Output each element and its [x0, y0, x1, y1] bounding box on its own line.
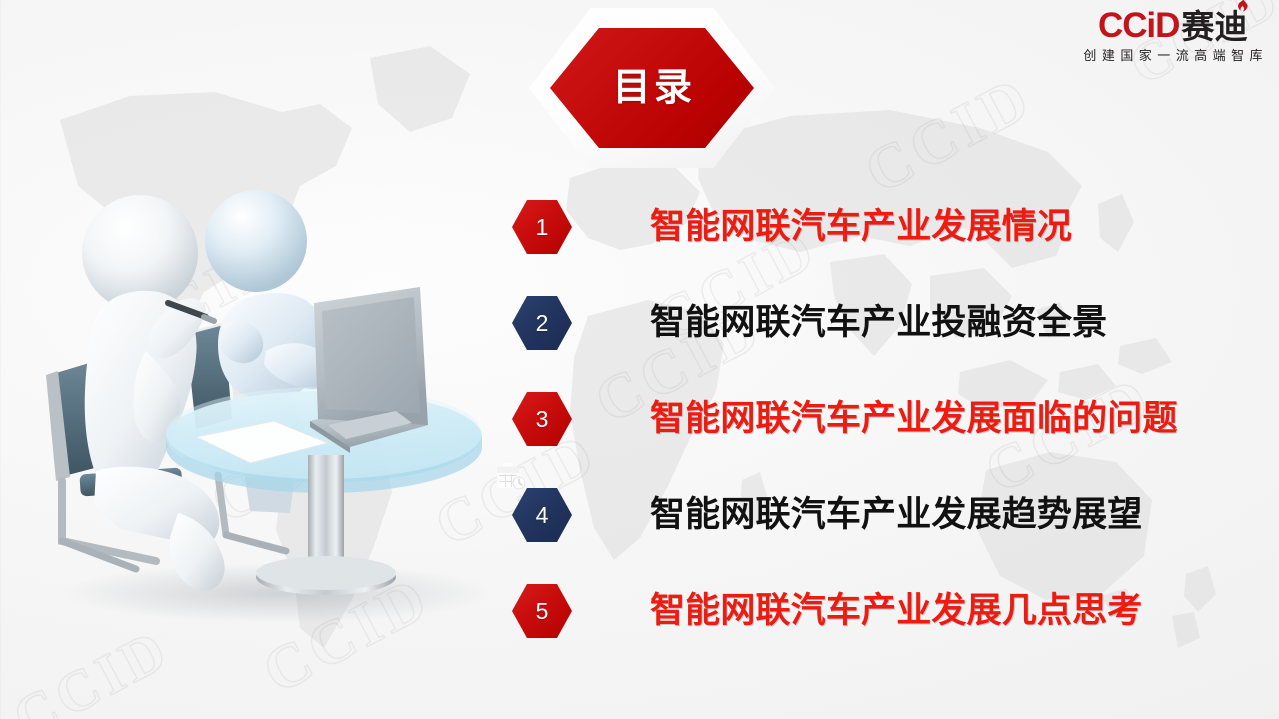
toc-item[interactable]: 3智能网联汽车产业发展面临的问题: [512, 388, 1212, 450]
ccid-logo: CCiD 赛迪 创建国家一流高端智库: [1075, 4, 1271, 68]
toc-item-label[interactable]: 智能网联汽车产业发展情况: [650, 209, 1072, 246]
page-title: 目录: [609, 69, 696, 107]
toc-item-number: 3: [536, 408, 549, 431]
toc-item-number: 1: [536, 216, 549, 239]
toc-bullet-hexagon[interactable]: 1: [512, 200, 572, 254]
toc-item[interactable]: 4智能网联汽车产业发展趋势展望: [512, 484, 1212, 546]
slide-title-hexagon: 目录: [529, 8, 775, 168]
flame-icon: [1237, 0, 1248, 12]
table-of-contents: 1智能网联汽车产业发展情况2智能网联汽车产业投融资全景3智能网联汽车产业发展面临…: [512, 196, 1212, 676]
toc-item[interactable]: 2智能网联汽车产业投融资全景: [512, 292, 1212, 354]
laptop-screen: [322, 297, 420, 413]
ccid-watermark: CCID: [854, 62, 1045, 208]
slide-root: CCIDCCIDCCIDCCIDCCIDCCIDCCIDCCIDCCIDCCID: [0, 0, 1279, 719]
toc-item-label[interactable]: 智能网联汽车产业发展几点思考: [650, 593, 1142, 630]
toc-bullet-hexagon[interactable]: 4: [512, 488, 572, 542]
toc-bullet-hexagon[interactable]: 5: [512, 584, 572, 638]
logo-wordmark-row: CCiD 赛迪: [1075, 4, 1271, 42]
toc-bullet-hexagon[interactable]: 3: [512, 392, 572, 446]
toc-item-number: 4: [536, 504, 549, 527]
logo-chinese-text: 赛迪: [1181, 11, 1248, 42]
toc-item[interactable]: 1智能网联汽车产业发展情况: [512, 196, 1212, 258]
toc-item-number: 5: [536, 600, 549, 623]
logo-tagline: 创建国家一流高端智库: [1075, 45, 1271, 64]
toc-item[interactable]: 5智能网联汽车产业发展几点思考: [512, 580, 1212, 642]
table-pedestal: [308, 455, 344, 573]
toc-item-label[interactable]: 智能网联汽车产业发展面临的问题: [650, 401, 1178, 438]
logo-latin-text: CCiD: [1098, 9, 1179, 42]
toc-bullet-hexagon[interactable]: 2: [512, 296, 572, 350]
laptop: [310, 287, 428, 453]
toc-item-label[interactable]: 智能网联汽车产业投融资全景: [650, 305, 1107, 342]
illustration-meeting-figures: [28, 175, 518, 625]
toc-item-number: 2: [536, 312, 549, 335]
toc-item-label[interactable]: 智能网联汽车产业发展趋势展望: [650, 497, 1142, 534]
ccid-watermark: CCID: [2, 615, 181, 719]
